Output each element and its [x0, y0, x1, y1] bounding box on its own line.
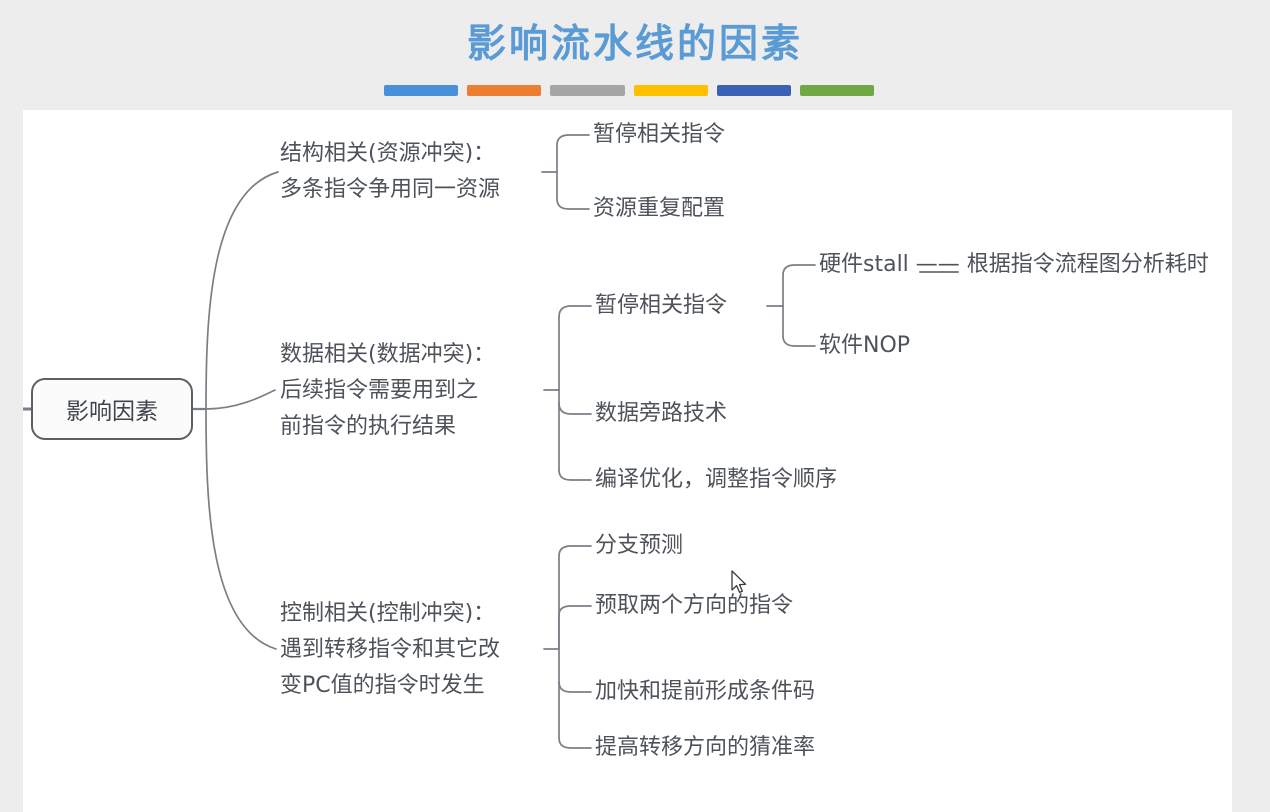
slide-header: 影响流水线的因素 [0, 0, 1270, 110]
node-data-grandchild-software-nop[interactable]: 软件NOP [819, 328, 910, 364]
mindmap-canvas: 影响因素 结构相关(资源冲突)： 多条指令争用同一资源 数据相关(数据冲突)： … [23, 110, 1232, 812]
rule-bar-gold [634, 85, 708, 96]
node-structural-child-duplicate-resource[interactable]: 资源重复配置 [593, 191, 725, 227]
node-control-child-improve-prediction-accuracy[interactable]: 提高转移方向的猜准率 [595, 730, 815, 766]
node-structural-hazard[interactable]: 结构相关(资源冲突)： 多条指令争用同一资源 [280, 136, 500, 208]
node-data-grandchild-hardware-stall[interactable]: 硬件stall —— 根据指令流程图分析耗时 [819, 247, 1209, 283]
rule-bar-green [800, 85, 874, 96]
mindmap-root-node[interactable]: 影响因素 [31, 378, 193, 440]
rule-bar-blue-light [384, 85, 458, 96]
rule-bar-gray [550, 85, 624, 96]
slide-stage: bilibili 影响流水线的因素 [0, 0, 1270, 812]
node-control-child-prefetch-both[interactable]: 预取两个方向的指令 [595, 588, 793, 624]
node-control-hazard[interactable]: 控制相关(控制冲突)： 遇到转移指令和其它改 变PC值的指令时发生 [280, 596, 500, 704]
rule-bar-orange [467, 85, 541, 96]
node-control-child-branch-prediction[interactable]: 分支预测 [595, 528, 683, 564]
node-data-child-forwarding[interactable]: 数据旁路技术 [595, 396, 727, 432]
node-data-child-stall[interactable]: 暂停相关指令 [595, 288, 727, 324]
node-data-child-compiler-optimization[interactable]: 编译优化，调整指令顺序 [595, 462, 837, 498]
node-data-hazard[interactable]: 数据相关(数据冲突)： 后续指令需要用到之 前指令的执行结果 [280, 337, 495, 445]
page-title: 影响流水线的因素 [0, 13, 1270, 69]
rule-bar-blue-dark [717, 85, 791, 96]
node-control-child-early-condition-code[interactable]: 加快和提前形成条件码 [595, 674, 815, 710]
node-structural-child-stall[interactable]: 暂停相关指令 [593, 117, 725, 153]
title-rule-bars [384, 85, 874, 96]
root-node-label: 影响因素 [66, 392, 158, 426]
